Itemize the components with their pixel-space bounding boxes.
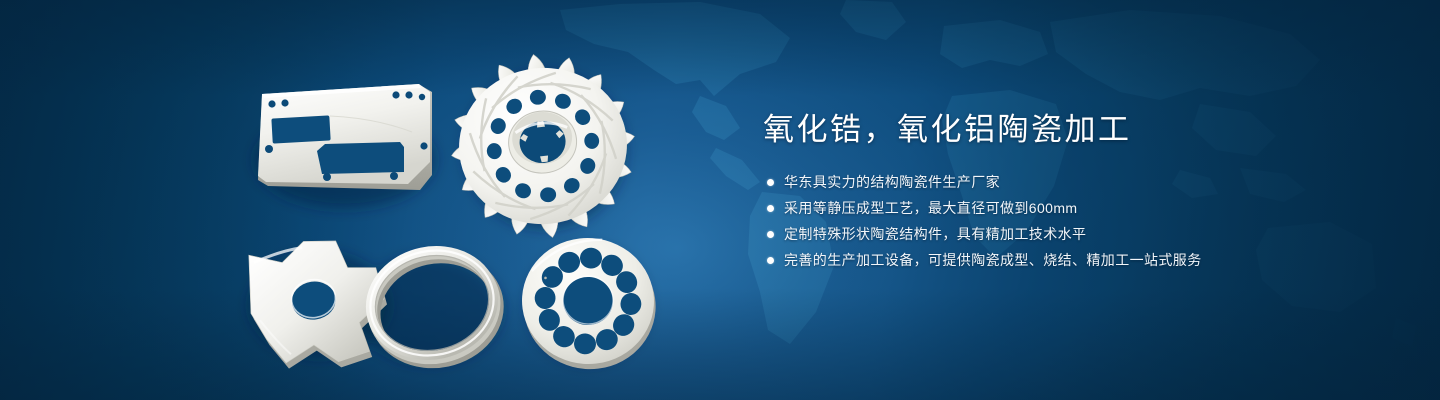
ceramic-products-image xyxy=(0,0,720,400)
feature-text: 定制特殊形状陶瓷结构件，具有精加工技术水平 xyxy=(784,224,1086,245)
page-title: 氧化锆，氧化铝陶瓷加工 xyxy=(763,110,1383,150)
promo-banner: 氧化锆，氧化铝陶瓷加工 华东具实力的结构陶瓷件生产厂家 采用等静压成型工艺，最大… xyxy=(0,0,1440,400)
feature-text: 完善的生产加工设备，可提供陶瓷成型、烧结、精加工一站式服务 xyxy=(784,250,1202,271)
ceramic-rectangular-plate xyxy=(258,84,432,190)
feature-list: 华东具实力的结构陶瓷件生产厂家 采用等静压成型工艺，最大直径可做到600mm 定… xyxy=(767,172,1383,271)
feature-text: 华东具实力的结构陶瓷件生产厂家 xyxy=(784,172,1000,193)
ceramic-vaned-impeller xyxy=(440,43,645,248)
list-item: 采用等静压成型工艺，最大直径可做到600mm xyxy=(767,198,1383,219)
feature-text: 采用等静压成型工艺，最大直径可做到600mm xyxy=(784,198,1077,219)
list-item: 完善的生产加工设备，可提供陶瓷成型、烧结、精加工一站式服务 xyxy=(767,250,1383,271)
bullet-dot-icon xyxy=(767,231,774,238)
bullet-dot-icon xyxy=(767,179,774,186)
bullet-dot-icon xyxy=(767,205,774,212)
bullet-dot-icon xyxy=(767,257,774,264)
banner-copy: 氧化锆，氧化铝陶瓷加工 华东具实力的结构陶瓷件生产厂家 采用等静压成型工艺，最大… xyxy=(763,110,1383,276)
ceramic-perforated-disc xyxy=(517,234,660,374)
list-item: 华东具实力的结构陶瓷件生产厂家 xyxy=(767,172,1383,193)
list-item: 定制特殊形状陶瓷结构件，具有精加工技术水平 xyxy=(767,224,1383,245)
